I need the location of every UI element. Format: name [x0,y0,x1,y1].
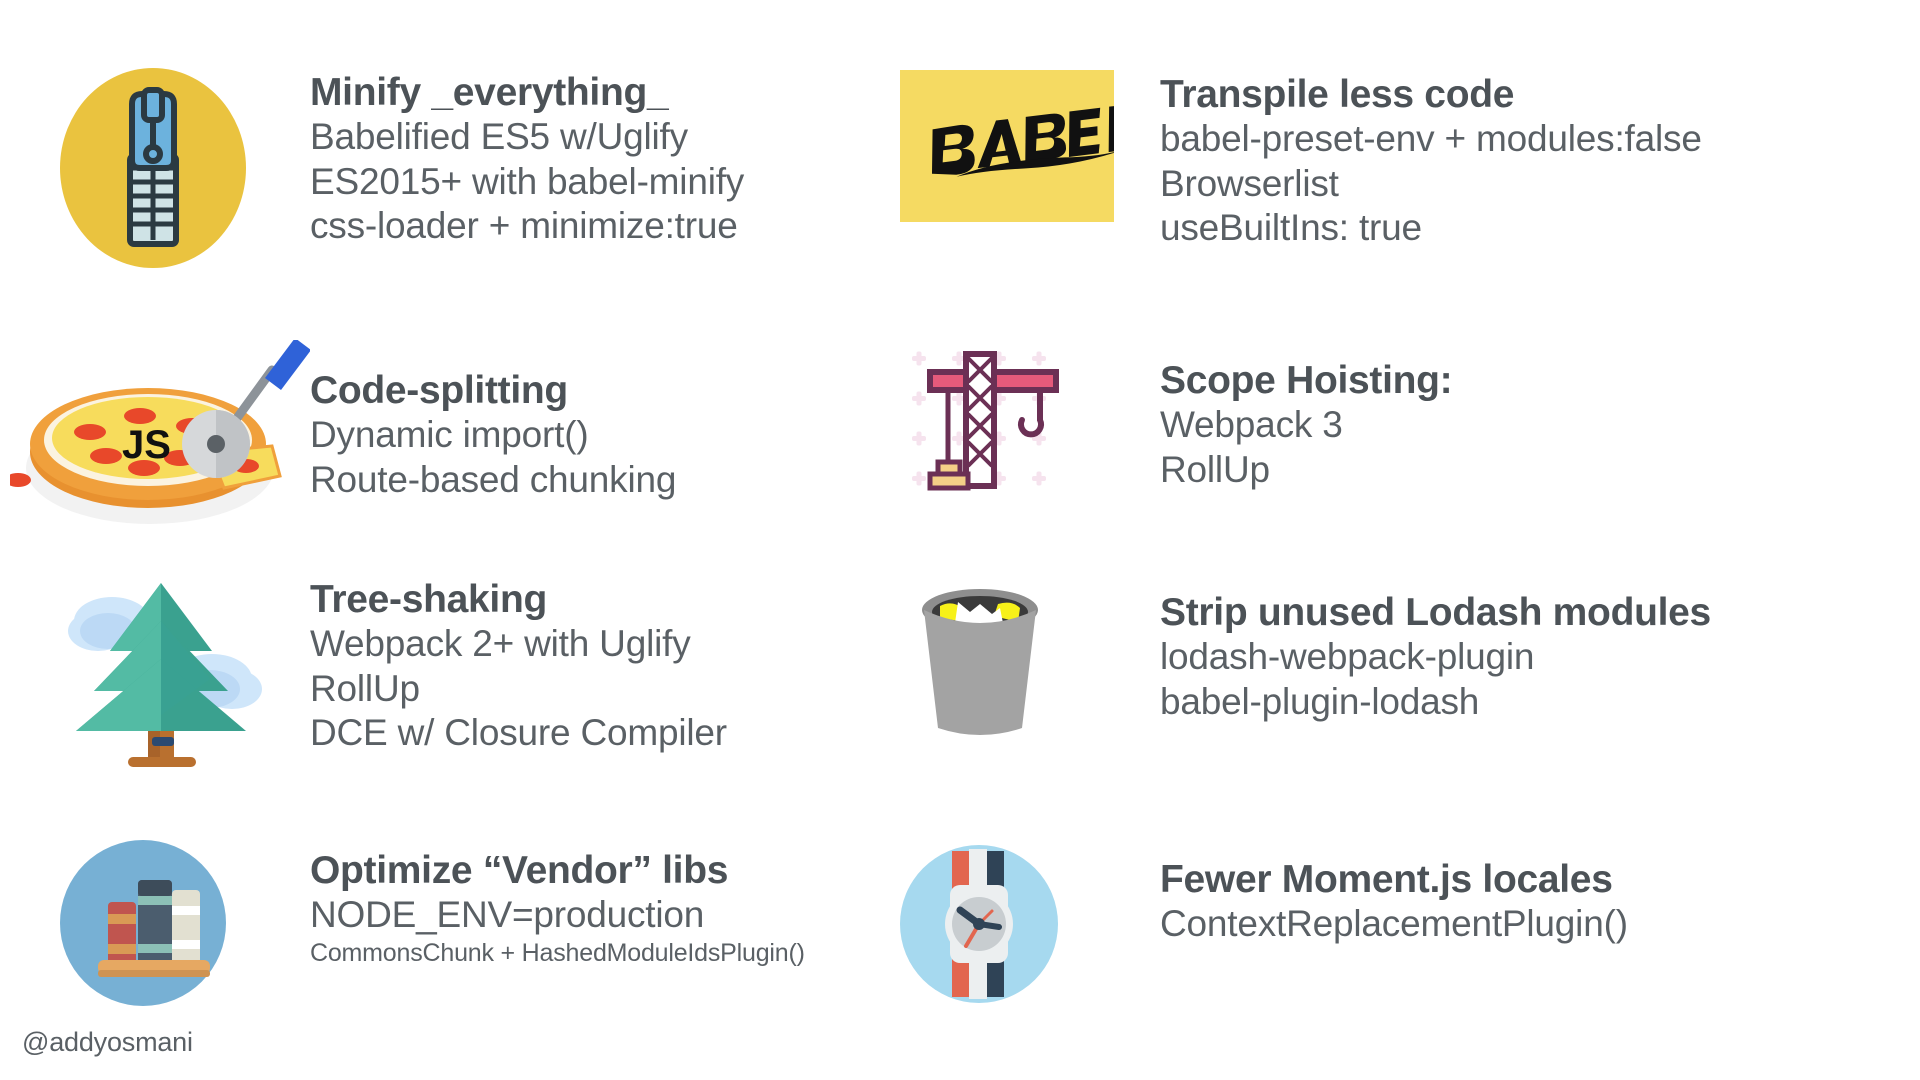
babel-logo-icon [900,70,1160,222]
item-title: Fewer Moment.js locales [1160,857,1628,902]
author-handle: @addyosmani [22,1027,193,1058]
text-code-splitting: Code-splitting Dynamic import() Route-ba… [310,340,676,502]
item-title: Optimize “Vendor” libs [310,848,805,893]
item-title: Strip unused Lodash modules [1160,590,1711,635]
item-transpile: Transpile less code babel-preset-env + m… [900,70,1702,250]
item-line: Dynamic import() [310,413,676,457]
item-line: RollUp [1160,448,1452,492]
item-tree-shaking: Tree-shaking Webpack 2+ with Uglify Roll… [60,575,727,770]
text-transpile: Transpile less code babel-preset-env + m… [1160,70,1702,250]
item-line: babel-preset-env + modules:false [1160,117,1702,161]
item-line: ES2015+ with babel-minify [310,160,744,204]
item-line: Route-based chunking [310,458,676,502]
item-title: Scope Hoisting: [1160,358,1452,403]
item-line: NODE_ENV=production [310,893,805,937]
item-title: Code-splitting [310,368,676,413]
column-right: Transpile less code babel-preset-env + m… [920,0,1880,1030]
text-strip-lodash: Strip unused Lodash modules lodash-webpa… [1160,580,1711,724]
item-line: babel-plugin-lodash [1160,680,1711,724]
item-moment-locales: Fewer Moment.js locales ContextReplaceme… [900,845,1628,1003]
item-line: ContextReplacementPlugin() [1160,902,1628,946]
text-moment-locales: Fewer Moment.js locales ContextReplaceme… [1160,845,1628,947]
wristwatch-icon [900,845,1160,1003]
trash-bin-icon [900,580,1160,740]
construction-crane-icon [900,340,1160,516]
item-title: Transpile less code [1160,72,1702,117]
item-line: Webpack 3 [1160,403,1452,447]
pizza-slice-js-icon: JS [10,340,310,540]
item-small-line: CommonsChunk + HashedModuleIdsPlugin() [310,938,805,968]
item-strip-lodash: Strip unused Lodash modules lodash-webpa… [900,580,1711,740]
item-title: Minify _everything_ [310,70,744,115]
item-line: Webpack 2+ with Uglify [310,622,727,666]
item-line: useBuiltIns: true [1160,206,1702,250]
item-line: css-loader + minimize:true [310,204,744,248]
item-code-splitting: JS Code-splitting Dynamic import() Route… [10,340,676,540]
item-line: lodash-webpack-plugin [1160,635,1711,679]
item-line: DCE w/ Closure Compiler [310,711,727,755]
column-left: Minify _everything_ Babelified ES5 w/Ugl… [0,0,960,1030]
item-scope-hoisting: Scope Hoisting: Webpack 3 RollUp [900,340,1452,516]
svg-text:JS: JS [122,423,171,467]
text-minify: Minify _everything_ Babelified ES5 w/Ugl… [310,68,744,248]
text-scope-hoisting: Scope Hoisting: Webpack 3 RollUp [1160,340,1452,492]
slide-root: Minify _everything_ Babelified ES5 w/Ugl… [0,0,1920,1080]
item-line: RollUp [310,667,727,711]
text-tree-shaking: Tree-shaking Webpack 2+ with Uglify Roll… [310,575,727,755]
bookshelf-icon [60,840,310,1006]
item-line: Browserlist [1160,162,1702,206]
zipper-icon [60,68,310,268]
item-title: Tree-shaking [310,577,727,622]
text-optimize-vendor: Optimize “Vendor” libs NODE_ENV=producti… [310,840,805,968]
item-line: Babelified ES5 w/Uglify [310,115,744,159]
item-optimize-vendor: Optimize “Vendor” libs NODE_ENV=producti… [60,840,805,1006]
pine-tree-icon [60,575,310,770]
item-minify: Minify _everything_ Babelified ES5 w/Ugl… [60,68,744,268]
